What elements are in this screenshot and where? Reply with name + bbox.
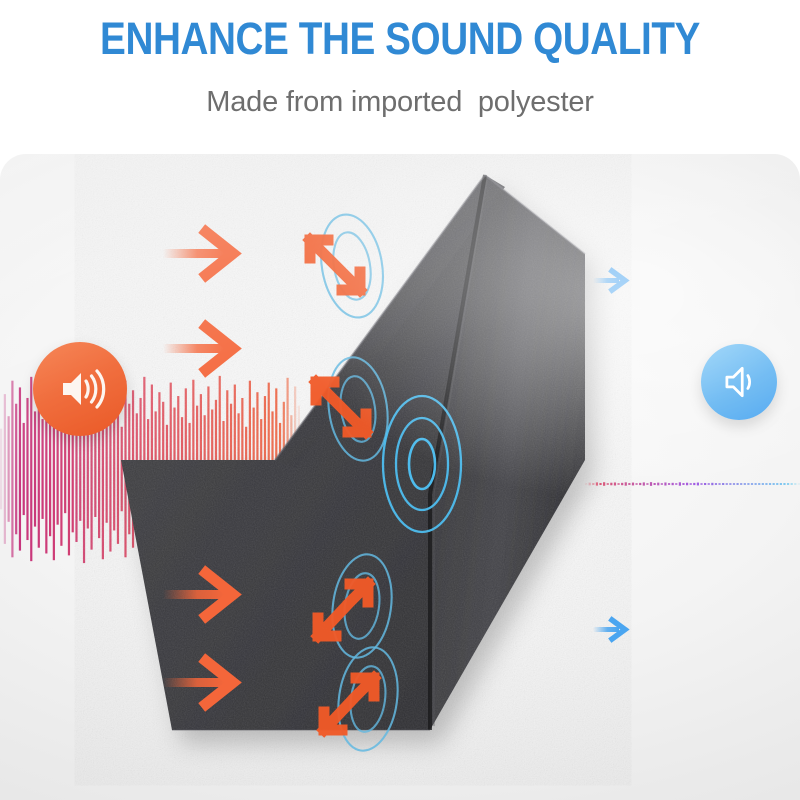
product-infographic: ENHANCE THE SOUND QUALITY Made from impo… bbox=[0, 0, 800, 800]
page-subtitle: Made from imported polyester bbox=[0, 86, 800, 119]
sound-out-arrow-2 bbox=[593, 620, 625, 639]
sound-direction-arrows bbox=[0, 154, 800, 800]
quiet-speaker-badge bbox=[701, 344, 777, 420]
speaker-quiet-icon bbox=[718, 361, 760, 403]
sound-out-arrow-1 bbox=[593, 271, 625, 290]
header: ENHANCE THE SOUND QUALITY Made from impo… bbox=[0, 0, 800, 150]
speaker-loud-icon bbox=[54, 363, 106, 415]
sound-in-arrow-3 bbox=[163, 573, 233, 616]
product-image-card bbox=[0, 154, 800, 800]
sound-in-arrow-4 bbox=[163, 661, 233, 704]
sound-in-arrow-1 bbox=[163, 232, 233, 275]
sound-in-arrow-2 bbox=[163, 327, 233, 370]
page-title: ENHANCE THE SOUND QUALITY bbox=[56, 16, 744, 62]
loud-speaker-badge bbox=[33, 342, 127, 436]
